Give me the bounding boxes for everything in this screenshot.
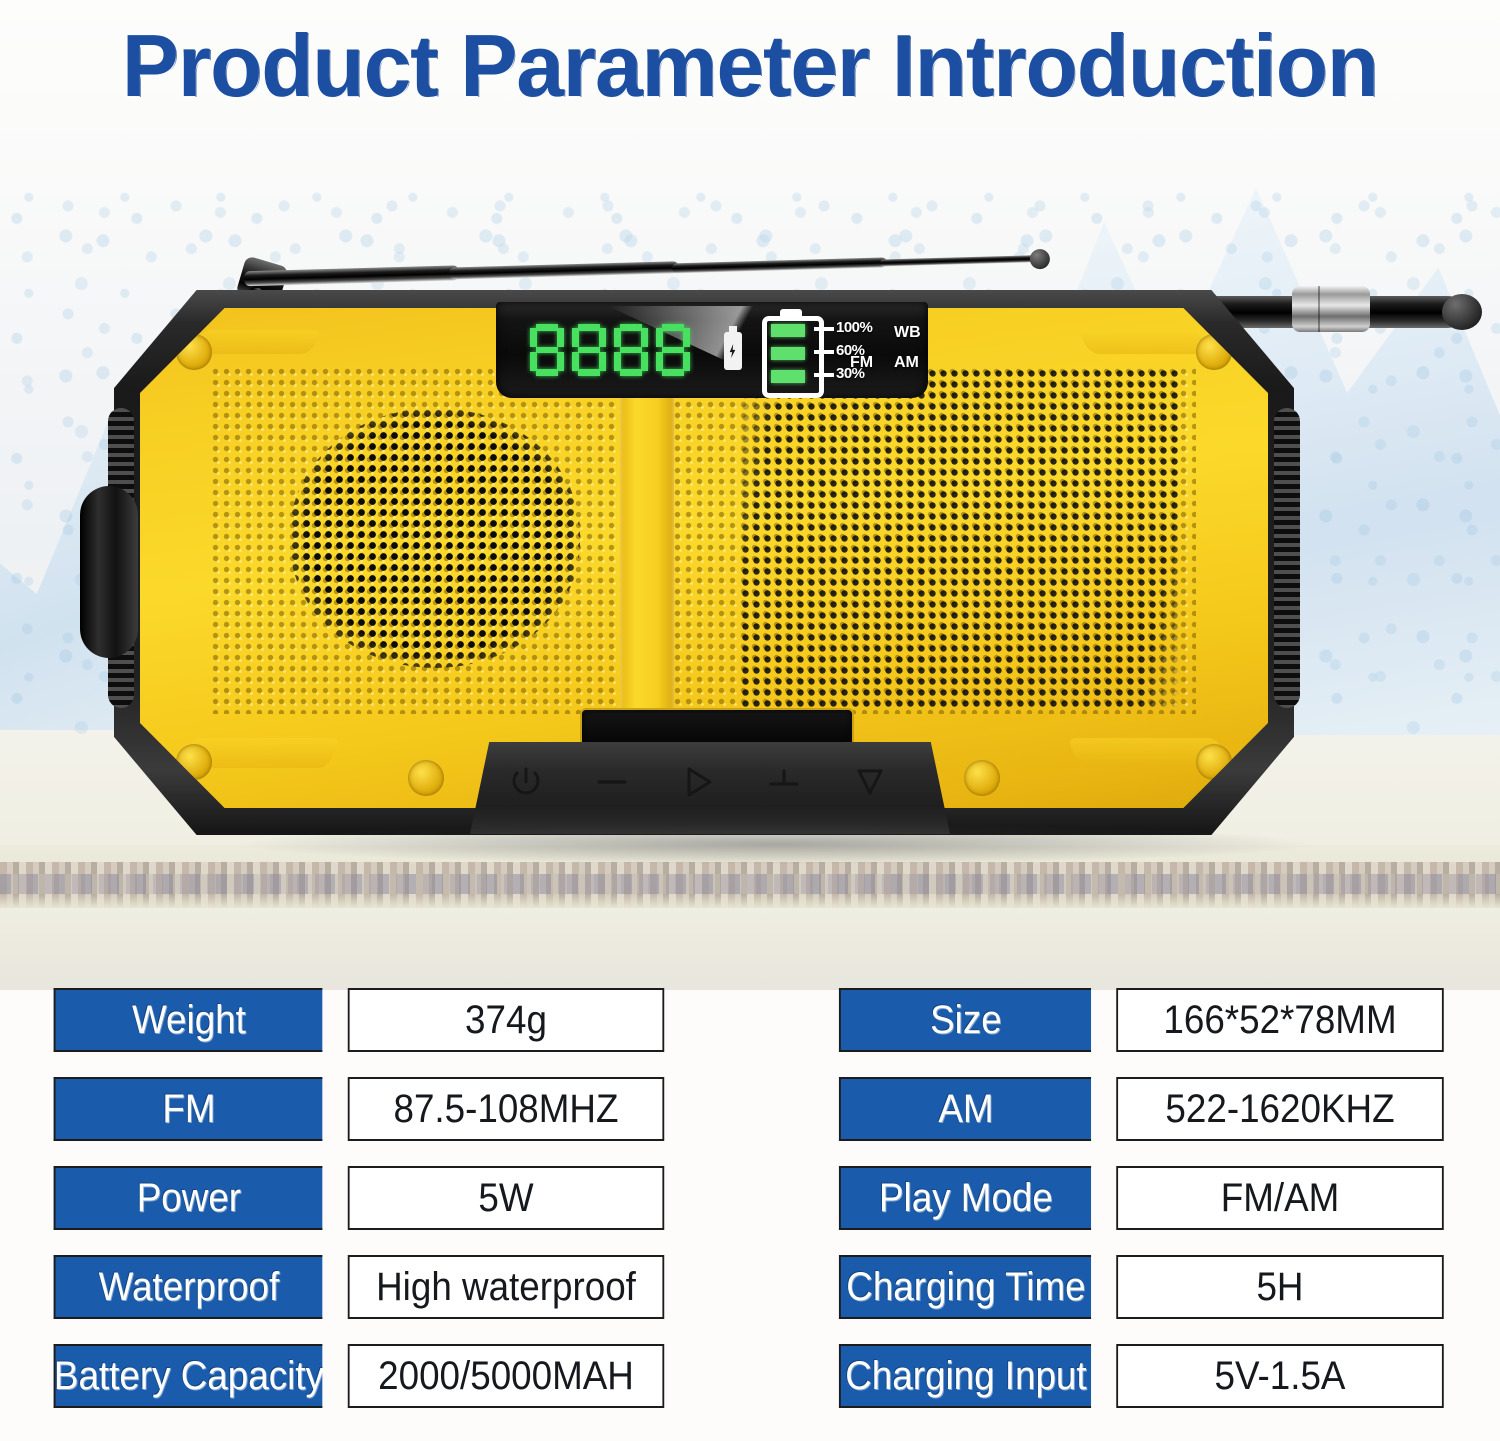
corner-screw (964, 760, 1000, 796)
volume-up-button[interactable] (764, 762, 810, 802)
bevel-accent (1078, 330, 1211, 354)
power-icon (506, 762, 552, 802)
table-row: Battery Capacity 2000/5000MAH (42, 1344, 678, 1408)
battery-level-100: 100% (836, 319, 872, 336)
table-row: FM 87.5-108MHZ (42, 1077, 678, 1141)
table-row: AM 522-1620KHZ (828, 1077, 1458, 1141)
table-row: Play Mode FM/AM (828, 1166, 1458, 1230)
spec-label: Charging Time (839, 1255, 1091, 1319)
specification-tables: Weight 374g FM 87.5-108MHZ Power 5W Wate… (0, 988, 1500, 1441)
antenna-segment (880, 255, 1040, 266)
mode-indicator-fm: FM (850, 354, 873, 372)
product-shadow (246, 824, 1306, 864)
table-row: Charging Time 5H (828, 1255, 1458, 1319)
carabiner-end-cap (1442, 294, 1482, 330)
plus-icon (764, 762, 810, 802)
seven-segment-digits (530, 324, 690, 376)
spec-label: Size (839, 988, 1091, 1052)
product-image: 8888 100% 60% 30% WB FM AM (96, 228, 1476, 848)
spec-table-left: Weight 374g FM 87.5-108MHZ Power 5W Wate… (42, 988, 678, 1441)
page-title: Product Parameter Introduction (23, 22, 1478, 110)
speaker-driver (290, 408, 580, 668)
play-icon (678, 762, 724, 802)
battery-leader-line (814, 373, 834, 377)
mode-button[interactable] (850, 762, 896, 802)
digit (656, 324, 690, 376)
battery-leader-line (814, 350, 834, 354)
minus-icon (592, 762, 638, 802)
spec-label: Battery Capacity (54, 1344, 323, 1408)
spec-label: FM (54, 1077, 323, 1141)
spec-value: FM/AM (1116, 1166, 1444, 1230)
spec-label: Weight (54, 988, 323, 1052)
spec-value: 5W (348, 1166, 664, 1230)
battery-leader-line (814, 327, 834, 331)
table-row: Size 166*52*78MM (828, 988, 1458, 1052)
spec-label: Power (54, 1166, 323, 1230)
snowfield-foreground (0, 908, 1500, 990)
product-parameter-page: Product Parameter Introduction (0, 0, 1500, 1441)
led-display: 8888 100% 60% 30% WB FM AM (496, 302, 928, 398)
spec-label: Waterproof (54, 1255, 323, 1319)
spec-value: 5V-1.5A (1116, 1344, 1444, 1408)
spec-value: High waterproof (348, 1255, 664, 1319)
spec-value: 87.5-108MHZ (348, 1077, 664, 1141)
carabiner-lock-sleeve (1292, 286, 1370, 332)
spec-value: 166*52*78MM (1116, 988, 1444, 1052)
corner-screw (408, 760, 444, 796)
side-knob (80, 486, 138, 658)
table-row: Power 5W (42, 1166, 678, 1230)
antenna-segment (449, 261, 679, 279)
spec-label: Charging Input (839, 1344, 1091, 1408)
table-row: Weight 374g (42, 988, 678, 1052)
digit (614, 324, 648, 376)
spec-value: 374g (348, 988, 664, 1052)
table-row: Charging Input 5V-1.5A (828, 1344, 1458, 1408)
spec-label: Play Mode (839, 1166, 1091, 1230)
power-button[interactable] (506, 762, 552, 802)
digit (530, 324, 564, 376)
treeline-near (0, 874, 1500, 894)
side-grip-right (1274, 408, 1300, 708)
antenna-tip (1030, 249, 1051, 270)
mode-indicator-am: AM (894, 354, 919, 372)
spec-value: 522-1620KHZ (1116, 1077, 1444, 1141)
antenna-segment (672, 257, 887, 273)
center-rib (620, 380, 674, 722)
digit (572, 324, 606, 376)
volume-down-button[interactable] (592, 762, 638, 802)
mode-indicator-wb: WB (894, 324, 921, 342)
spec-table-right: Size 166*52*78MM AM 522-1620KHZ Play Mod… (828, 988, 1458, 1441)
spec-value: 2000/5000MAH (348, 1344, 664, 1408)
play-button[interactable] (678, 762, 724, 802)
radio-body: 8888 100% 60% 30% WB FM AM (114, 290, 1294, 835)
spec-label: AM (839, 1077, 1091, 1141)
flashlight-icon (850, 762, 896, 802)
button-bar (470, 742, 950, 834)
speaker-grille-right (740, 368, 1180, 710)
charging-indicator-icon (724, 332, 742, 370)
table-row: Waterproof High waterproof (42, 1255, 678, 1319)
spec-value: 5H (1116, 1255, 1444, 1319)
